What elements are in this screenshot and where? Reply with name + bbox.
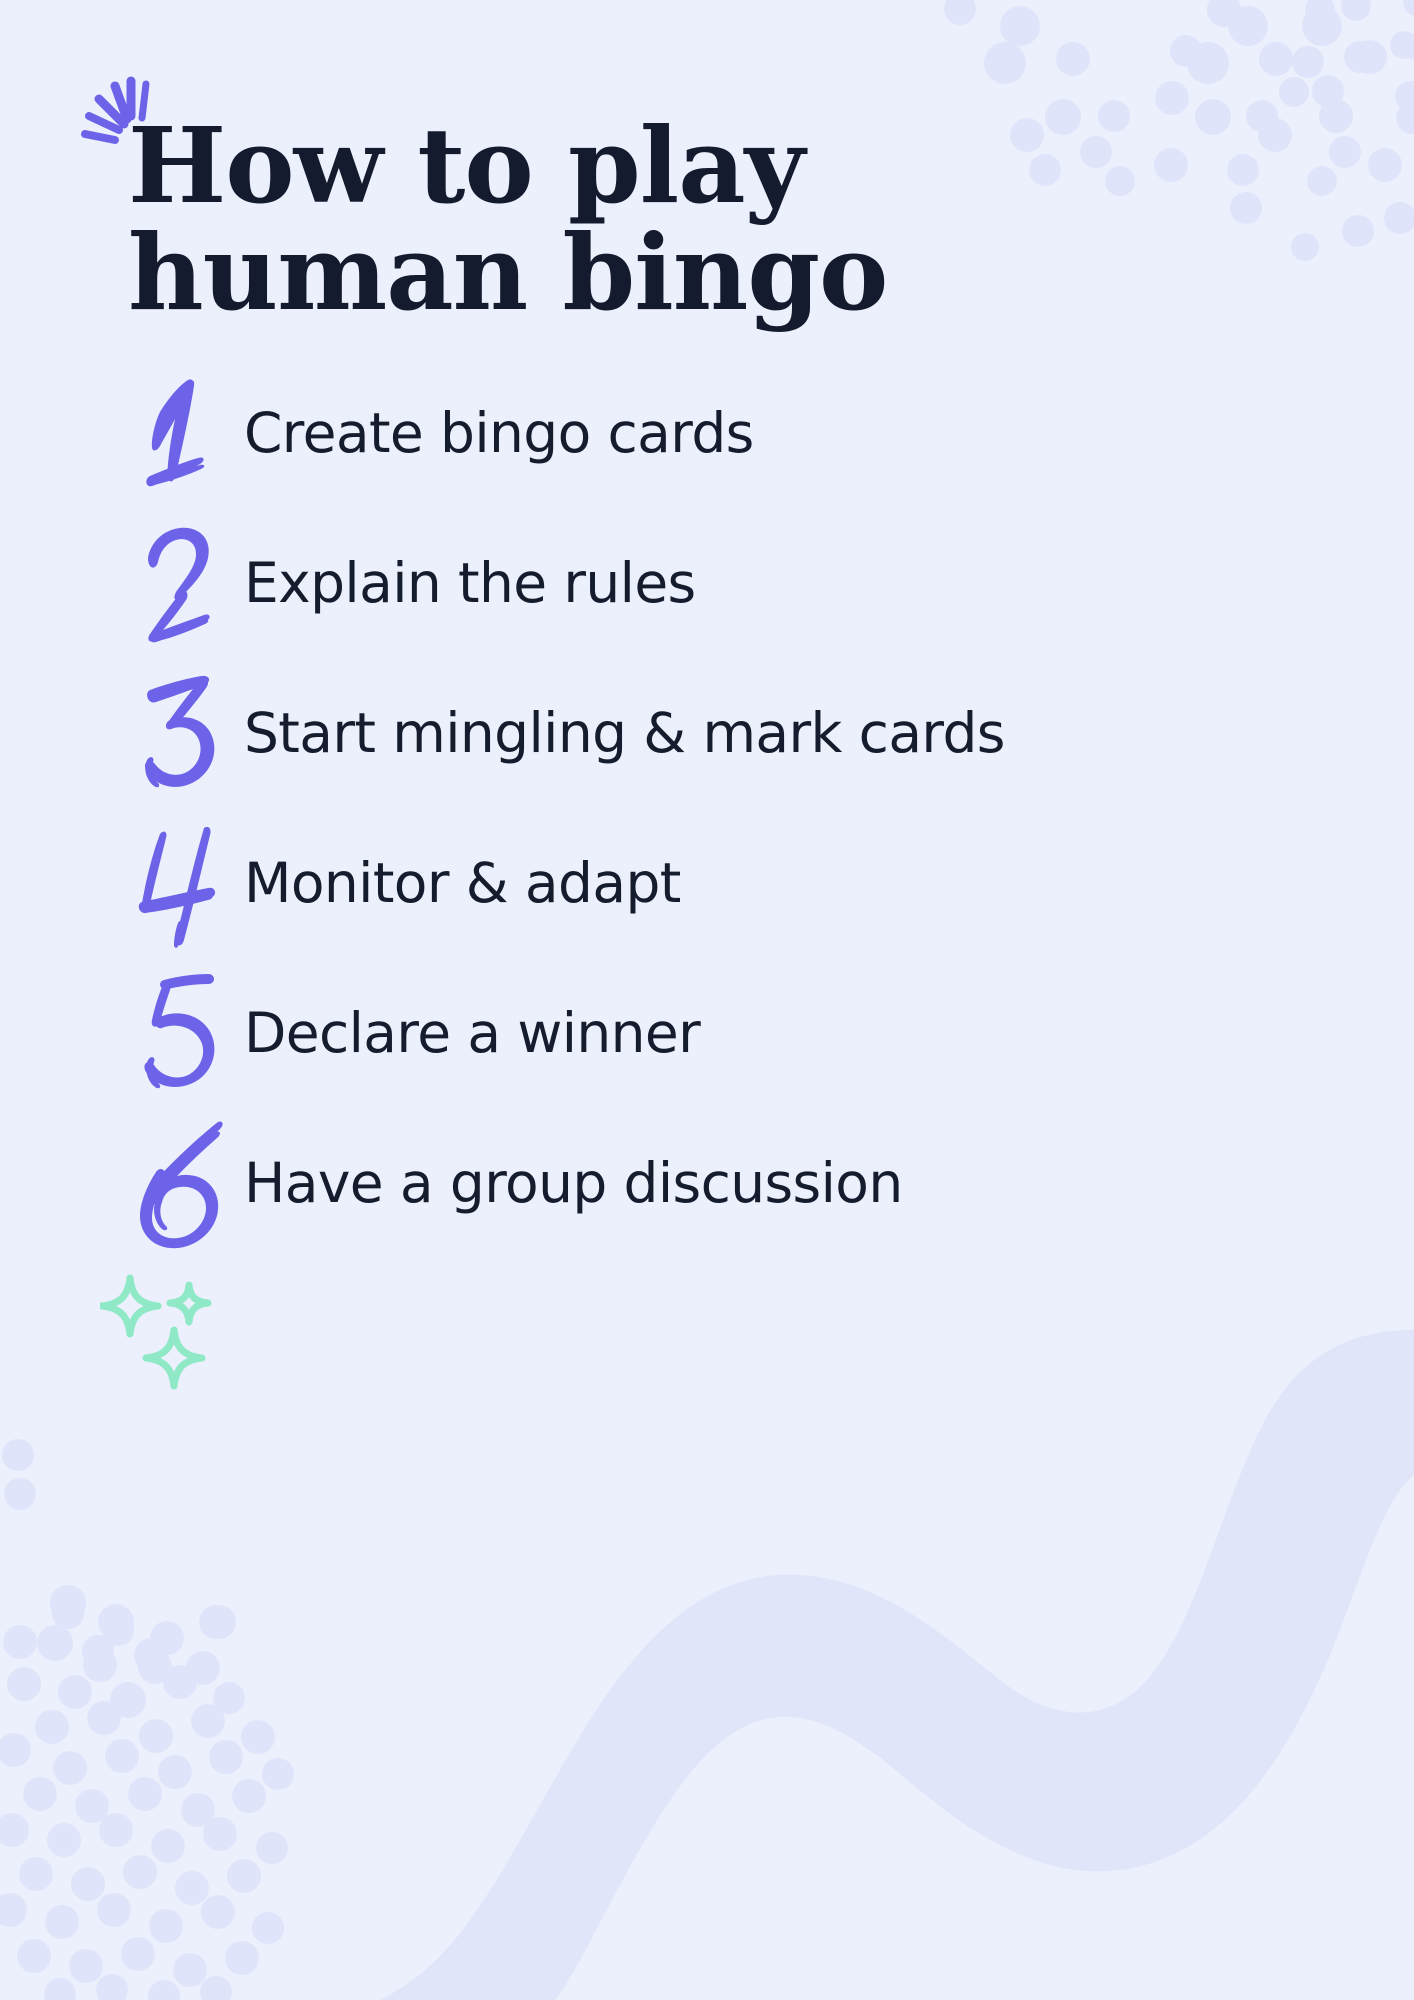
step-label: Explain the rules [244,553,696,614]
step-label: Create bingo cards [244,403,754,464]
step-label: Declare a winner [244,1003,700,1064]
title-block: How to play human bingo [128,112,1028,326]
list-item: Have a group discussion [126,1108,1246,1258]
step-label: Monitor & adapt [244,853,681,914]
list-item: Monitor & adapt [126,808,1246,958]
list-item: Explain the rules [126,508,1246,658]
step-label: Have a group discussion [244,1153,903,1214]
list-item: Declare a winner [126,958,1246,1108]
list-item: Create bingo cards [126,358,1246,508]
step-number-4-icon [126,818,244,948]
four-point-sparkle-icon [100,1272,230,1402]
steps-list: Create bingo cards Explain the rules [126,358,1246,1258]
page-title: How to play human bingo [128,112,1028,326]
dot-cluster-bottom-left [0,1439,294,2000]
step-number-2-icon [126,518,244,648]
list-item: Start mingling & mark cards [126,658,1246,808]
step-number-5-icon [126,968,244,1098]
step-label: Start mingling & mark cards [244,703,1005,764]
step-number-1-icon [126,368,244,498]
step-number-6-icon [126,1118,244,1248]
wave-ribbon [380,1330,1414,2000]
sparkle-burst-icon [74,70,162,158]
step-number-3-icon [126,668,244,798]
poster-canvas: How to play human bingo Create bingo car… [0,0,1414,2000]
